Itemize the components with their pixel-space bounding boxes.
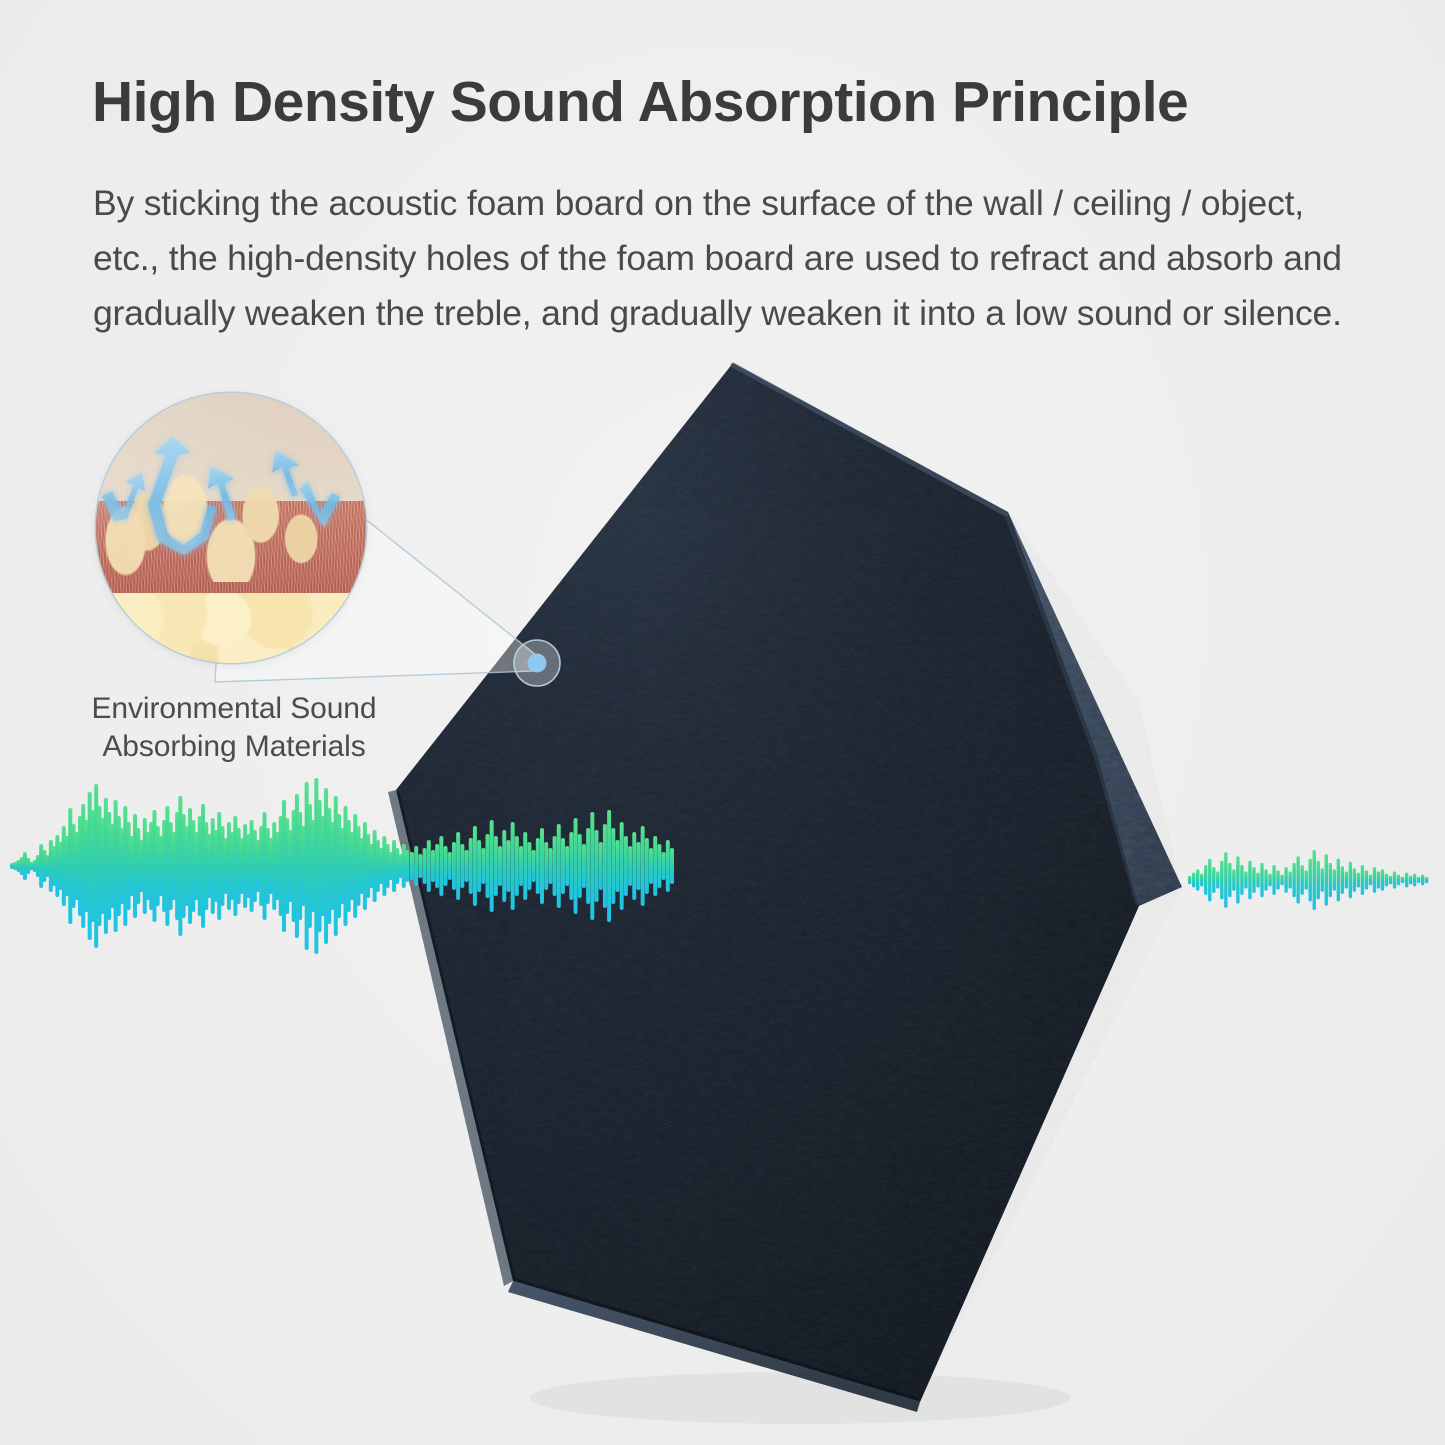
sound-absorption-arrows-icon [96, 393, 366, 663]
inset-caption: Environmental Sound Absorbing Materials [84, 690, 384, 765]
callout-tip-marker [514, 640, 560, 686]
inset-caption-line-1: Environmental Sound [84, 690, 384, 728]
panel-side-face [973, 512, 1182, 906]
magnifier-circle [96, 393, 366, 663]
poster-canvas: High Density Sound Absorption Principle … [0, 0, 1445, 1445]
waveform-segment-absorbed-sound [410, 810, 674, 922]
panel-bottom-edge [388, 790, 920, 1412]
waveform-segment-incoming-sound [10, 778, 409, 954]
panel-front-face [380, 355, 1200, 1415]
description-paragraph: By sticking the acoustic foam board on t… [93, 176, 1351, 341]
page-title: High Density Sound Absorption Principle [92, 72, 1362, 132]
waveform-segment-transmitted-sound [1188, 850, 1428, 910]
inset-caption-line-2: Absorbing Materials [84, 728, 384, 766]
magnifier-inset [96, 393, 366, 663]
